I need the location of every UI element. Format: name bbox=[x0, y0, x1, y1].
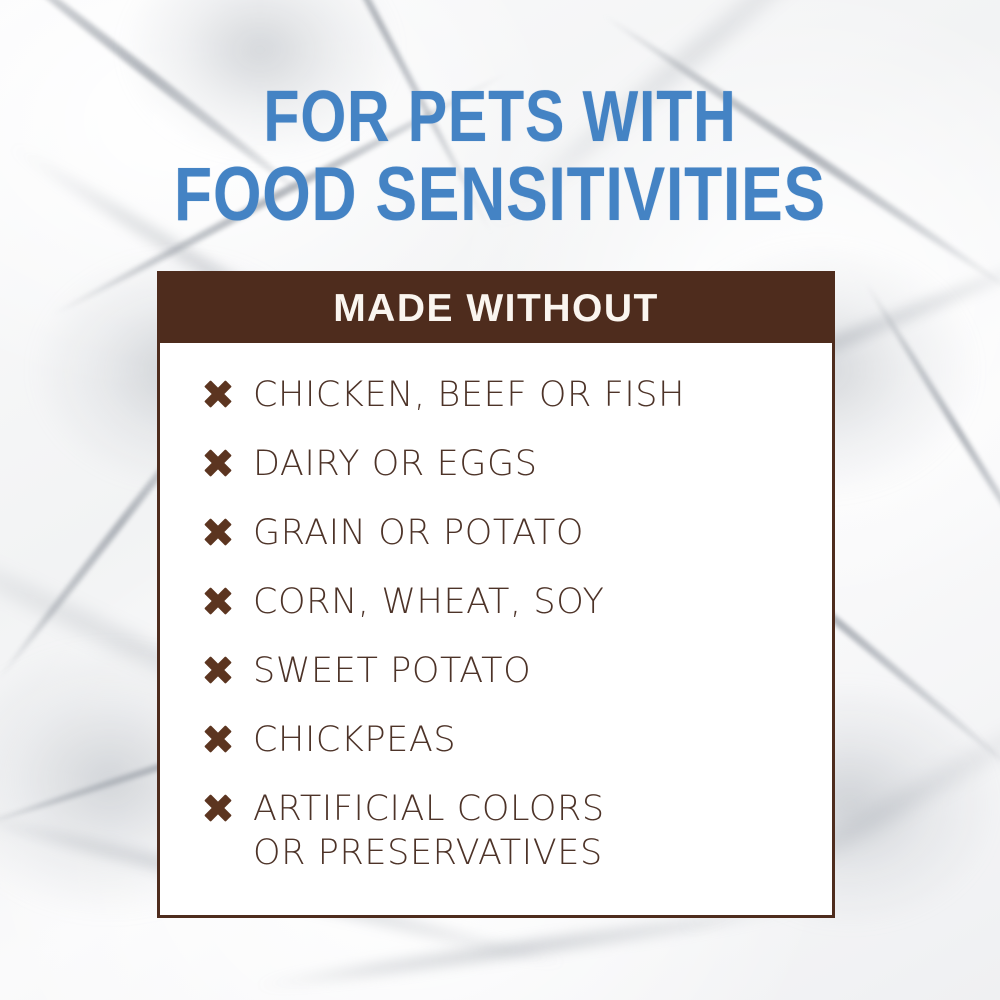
page-title: FOR PETS WITH FOOD SENSITIVITIES bbox=[90, 78, 910, 234]
list-item: CORN, WHEAT, SOY bbox=[204, 580, 832, 624]
list-item-label: DAIRY OR EGGS bbox=[253, 442, 538, 486]
made-without-panel: MADE WITHOUT CHICKEN, BEEF OR FISH DAIRY… bbox=[157, 271, 835, 918]
list-item-label: GRAIN OR POTATO bbox=[253, 511, 584, 555]
x-mark-icon bbox=[204, 449, 232, 477]
product-feature-poster: FOR PETS WITH FOOD SENSITIVITIES MADE WI… bbox=[0, 0, 1000, 1000]
list-item: GRAIN OR POTATO bbox=[204, 511, 832, 555]
list-item: DAIRY OR EGGS bbox=[204, 442, 832, 486]
x-mark-icon bbox=[204, 656, 232, 684]
headline-line-1: FOR PETS WITH bbox=[90, 78, 910, 156]
panel-header-title: MADE WITHOUT bbox=[333, 287, 659, 331]
x-mark-icon bbox=[204, 794, 232, 822]
list-item-label: ARTIFICIAL COLORS OR PRESERVATIVES bbox=[253, 787, 605, 875]
panel-header: MADE WITHOUT bbox=[160, 274, 832, 343]
list-item: SWEET POTATO bbox=[204, 649, 832, 693]
x-mark-icon bbox=[204, 518, 232, 546]
list-item: CHICKPEAS bbox=[204, 718, 832, 762]
x-mark-icon bbox=[204, 725, 232, 753]
x-mark-icon bbox=[204, 587, 232, 615]
list-item-label: CHICKPEAS bbox=[253, 718, 456, 762]
list-item: ARTIFICIAL COLORS OR PRESERVATIVES bbox=[204, 787, 832, 875]
list-item-label: CORN, WHEAT, SOY bbox=[253, 580, 604, 624]
panel-body: CHICKEN, BEEF OR FISH DAIRY OR EGGS GRAI… bbox=[160, 343, 832, 915]
list-item-label: CHICKEN, BEEF OR FISH bbox=[253, 373, 685, 417]
headline-line-2: FOOD SENSITIVITIES bbox=[90, 156, 910, 234]
list-item: CHICKEN, BEEF OR FISH bbox=[204, 373, 832, 417]
made-without-list: CHICKEN, BEEF OR FISH DAIRY OR EGGS GRAI… bbox=[204, 373, 832, 875]
x-mark-icon bbox=[204, 380, 232, 408]
list-item-label: SWEET POTATO bbox=[253, 649, 531, 693]
